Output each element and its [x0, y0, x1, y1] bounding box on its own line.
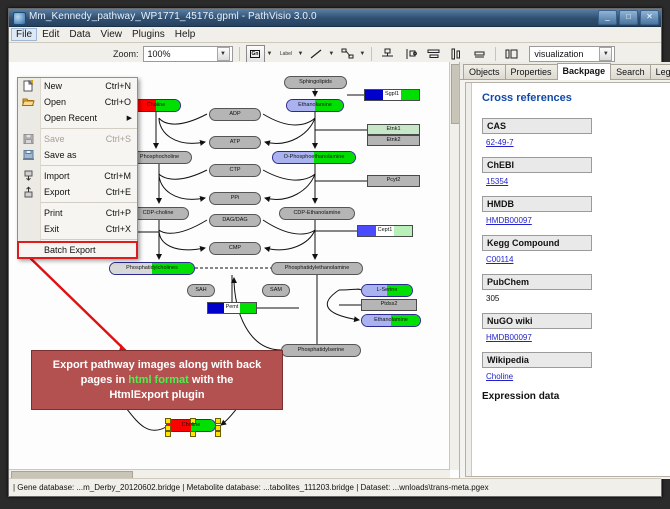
title-bar: Mm_Kennedy_pathway_WP1771_45176.gpml - P…: [9, 9, 661, 27]
cross-reference-list: CAS62-49-7ChEBI15354HMDBHMDB00097Kegg Co…: [482, 118, 670, 381]
new-document-icon: [22, 80, 35, 92]
status-text: | Gene database: ...m_Derby_20120602.bri…: [9, 483, 489, 492]
menu-item-new-label: New: [44, 81, 62, 91]
callout-highlight: html format: [128, 374, 189, 386]
distribute-horizontal-icon[interactable]: [447, 45, 466, 63]
pathway-node-cept1[interactable]: Cept1: [357, 225, 413, 237]
tab-objects[interactable]: Objects: [463, 64, 506, 79]
align-top-icon[interactable]: [378, 45, 397, 63]
backpage-scrollbar[interactable]: [466, 83, 472, 476]
pathway-node-ethanolamine2[interactable]: Ethanolamine: [361, 314, 421, 327]
pathway-node-cmp[interactable]: CMP: [209, 242, 261, 255]
node-label: Pcyt2: [387, 178, 401, 184]
menu-item-open-recent-label: Open Recent: [44, 113, 97, 123]
node-label: Ethanolamine: [298, 103, 332, 109]
file-menu-popup[interactable]: New Ctrl+N Open Ctrl+O Open Recent ▶ Sav…: [17, 77, 138, 259]
node-label: CDP-choline: [143, 211, 174, 217]
menu-help[interactable]: Help: [170, 28, 201, 41]
node-label: Ptdss2: [381, 302, 398, 308]
pathway-node-dagdag[interactable]: DAG/DAG: [209, 214, 261, 227]
selection-handle-7[interactable]: [215, 431, 221, 437]
pathway-node-lserine[interactable]: L-Serine: [361, 284, 413, 297]
window-controls: _ □ ✕: [598, 10, 659, 25]
callout-line2-after: with the: [189, 374, 234, 386]
toolbar-separator-3: [495, 47, 496, 61]
pathway-node-pcyt2[interactable]: Pcyt2: [367, 175, 420, 187]
xref-source-kegg-compound: Kegg Compound: [482, 235, 592, 251]
pathway-node-etnk2[interactable]: Etnk2: [367, 135, 420, 146]
menu-data[interactable]: Data: [64, 28, 95, 41]
toolbar-separator-2: [371, 47, 372, 61]
menu-edit[interactable]: Edit: [37, 28, 64, 41]
node-label: Pemt: [226, 305, 239, 311]
node-label: CDP-Ethanolamine: [293, 211, 340, 217]
node-label: DAG/DAG: [222, 218, 247, 224]
menu-separator-4: [41, 239, 137, 240]
node-label: Phosphatidylcholines: [126, 266, 178, 272]
menu-item-exit-accel: Ctrl+X: [106, 224, 131, 234]
menu-item-print[interactable]: Print Ctrl+P: [18, 205, 137, 221]
selection-handle-5[interactable]: [165, 431, 171, 437]
backpage-content: Cross references CAS62-49-7ChEBI15354HMD…: [465, 82, 670, 477]
menu-item-save-accel: Ctrl+S: [106, 134, 131, 144]
stack-icon[interactable]: [470, 45, 489, 63]
pathway-node-ptdss2[interactable]: Ptdss2: [361, 299, 417, 311]
minimize-button[interactable]: _: [598, 10, 617, 25]
side-panel-tabs: Objects Properties Backpage Search Legen…: [460, 62, 670, 80]
node-label: SAM: [270, 288, 282, 294]
tab-legend[interactable]: Legend: [650, 64, 670, 79]
xref-value-cas[interactable]: 62-49-7: [486, 138, 670, 147]
xref-value-kegg-compound[interactable]: C00114: [486, 255, 670, 264]
pathway-node-sgpl1[interactable]: Sgpl1: [364, 89, 420, 101]
pathway-node-ctp[interactable]: CTP: [209, 164, 261, 177]
xref-value-nugo-wiki[interactable]: HMDB00097: [486, 333, 670, 342]
pathway-node-ethanolamine[interactable]: Ethanolamine: [286, 99, 344, 112]
submenu-arrow-icon: ▶: [127, 114, 132, 122]
status-bar: | Gene database: ...m_Derby_20120602.bri…: [9, 478, 661, 496]
node-label: Etnk2: [386, 138, 400, 144]
callout-line3: HtmlExport plugin: [109, 389, 204, 401]
folder-open-icon: [22, 96, 35, 108]
app-icon: [13, 12, 26, 25]
node-label: Phosphatidylethanolamine: [285, 266, 350, 272]
menu-item-new-accel: Ctrl+N: [105, 81, 131, 91]
pathway-node-choline2[interactable]: Choline: [166, 419, 216, 432]
xref-value-wikipedia[interactable]: Choline: [486, 372, 670, 381]
xref-value-chebi[interactable]: 15354: [486, 177, 670, 186]
menu-plugins[interactable]: Plugins: [127, 28, 170, 41]
interaction-dropdown-icon[interactable]: ▼: [359, 51, 365, 57]
menu-item-open-label: Open: [44, 97, 66, 107]
menu-item-save-label: Save: [44, 134, 65, 144]
pathway-node-ppi[interactable]: PPi: [209, 192, 261, 205]
xref-source-chebi: ChEBI: [482, 157, 592, 173]
node-label: Cept1: [378, 228, 393, 234]
chevron-down-icon-2[interactable]: ▼: [599, 47, 612, 61]
maximize-button[interactable]: □: [619, 10, 638, 25]
zoom-value: 100%: [148, 49, 171, 59]
menu-view[interactable]: View: [95, 28, 127, 41]
menu-item-print-label: Print: [44, 208, 63, 218]
interaction-icon[interactable]: [338, 45, 357, 63]
menu-item-export-accel: Ctrl+E: [106, 187, 131, 197]
visualization-glyph-icon: [502, 45, 521, 63]
node-label: Sgpl1: [385, 92, 399, 98]
pathway-node-ophosphoethanolamine[interactable]: O-Phosphoethanolamine: [272, 151, 356, 164]
node-label: Etnk1: [386, 127, 400, 133]
menu-item-import-accel: Ctrl+M: [104, 171, 131, 181]
selection-handle-3[interactable]: [165, 425, 171, 431]
line-dropdown-icon[interactable]: ▼: [328, 51, 334, 57]
menu-separator-2: [41, 165, 137, 166]
menu-item-save: Save Ctrl+S: [18, 131, 137, 147]
visualization-value: visualization: [534, 49, 583, 59]
pathway-node-phosphatidylcholines[interactable]: Phosphatidylcholines: [109, 262, 195, 275]
node-label: Choline: [182, 423, 201, 429]
menu-item-save-as-label: Save as: [44, 150, 77, 160]
expression-data-heading: Expression data: [482, 391, 670, 402]
tab-properties[interactable]: Properties: [505, 64, 558, 79]
menu-item-new[interactable]: New Ctrl+N: [18, 78, 137, 94]
menu-separator-3: [41, 202, 137, 203]
zoom-combobox[interactable]: 100% ▼: [143, 46, 233, 62]
window-title: Mm_Kennedy_pathway_WP1771_45176.gpml - P…: [29, 11, 317, 22]
callout-text: Export pathway images along with back pa…: [47, 358, 267, 403]
pathway-node-adp[interactable]: ADP: [209, 108, 261, 121]
xref-source-cas: CAS: [482, 118, 592, 134]
selection-handle-6[interactable]: [190, 431, 196, 437]
pathway-node-sam[interactable]: SAM: [262, 284, 290, 297]
node-label: Phosphocholine: [140, 155, 179, 161]
selection-handle-2[interactable]: [215, 418, 221, 424]
align-left-icon[interactable]: [401, 45, 420, 63]
menu-file[interactable]: File: [11, 28, 37, 41]
node-label: Choline: [147, 103, 166, 109]
menu-item-import-label: Import: [44, 171, 70, 181]
pathway-node-pemt[interactable]: Pemt: [207, 302, 257, 314]
pathway-node-etnk1[interactable]: Etnk1: [367, 124, 420, 135]
menu-item-import[interactable]: Import Ctrl+M: [18, 168, 137, 184]
side-panel: Objects Properties Backpage Search Legen…: [460, 62, 670, 479]
xref-value-pubchem: 305: [486, 294, 670, 303]
cross-references-heading: Cross references: [482, 92, 670, 104]
datanode-icon[interactable]: Gn: [246, 45, 265, 63]
label-dropdown-icon[interactable]: ▼: [297, 51, 303, 57]
xref-source-nugo-wiki: NuGO wiki: [482, 313, 592, 329]
pathway-node-cdpethanolamine[interactable]: CDP-Ethanolamine: [279, 207, 355, 220]
node-label: SAH: [195, 288, 206, 294]
menu-item-export[interactable]: Export Ctrl+E: [18, 184, 137, 200]
menu-separator-1: [41, 128, 137, 129]
menu-item-open-accel: Ctrl+O: [105, 97, 131, 107]
export-icon: [22, 186, 35, 198]
xref-source-pubchem: PubChem: [482, 274, 592, 290]
node-label: ATP: [230, 140, 240, 146]
menu-item-exit-label: Exit: [44, 224, 59, 234]
line-icon[interactable]: [307, 45, 326, 63]
menu-item-batch-export[interactable]: Batch Export: [18, 242, 137, 258]
save-as-icon: [22, 149, 35, 161]
visualization-combobox[interactable]: visualization ▼: [529, 46, 615, 62]
node-label: CMP: [229, 246, 241, 252]
zoom-label: Zoom:: [113, 49, 139, 59]
callout-box: Export pathway images along with back pa…: [31, 350, 283, 410]
pathvisio-window: Mm_Kennedy_pathway_WP1771_45176.gpml - P…: [8, 8, 662, 497]
node-label: PPi: [231, 196, 240, 202]
node-label: Ethanolamine: [374, 318, 408, 324]
menu-item-print-accel: Ctrl+P: [106, 208, 131, 218]
menu-item-save-as[interactable]: Save as: [18, 147, 137, 163]
menu-item-open[interactable]: Open Ctrl+O: [18, 94, 137, 110]
pathway-node-phosphatidylethanolamine[interactable]: Phosphatidylethanolamine: [271, 262, 363, 275]
menu-item-open-recent[interactable]: Open Recent ▶: [18, 110, 137, 126]
tab-search[interactable]: Search: [610, 64, 651, 79]
selection-handle-0[interactable]: [165, 418, 171, 424]
screenshot-root: Mm_Kennedy_pathway_WP1771_45176.gpml - P…: [0, 0, 670, 509]
callout-line1: Export pathway images along with back: [53, 359, 261, 371]
import-icon: [22, 170, 35, 182]
selection-handle-4[interactable]: [215, 425, 221, 431]
close-button[interactable]: ✕: [640, 10, 659, 25]
node-label: L-Serine: [377, 288, 398, 294]
pathway-node-sphingolipids[interactable]: Sphingolipids: [284, 76, 347, 89]
node-label: O-Phosphoethanolamine: [284, 155, 345, 161]
pathway-node-phosphatidylserine[interactable]: Phosphatidylserine: [281, 344, 361, 357]
menu-item-batch-export-label: Batch Export: [44, 245, 96, 255]
node-label: Sphingolipids: [299, 80, 332, 86]
xref-source-wikipedia: Wikipedia: [482, 352, 592, 368]
distribute-vertical-icon[interactable]: [424, 45, 443, 63]
menu-item-exit[interactable]: Exit Ctrl+X: [18, 221, 137, 237]
callout-line2-before: pages in: [81, 374, 129, 386]
xref-value-hmdb[interactable]: HMDB00097: [486, 216, 670, 225]
menu-item-export-label: Export: [44, 187, 70, 197]
datanode-dropdown-icon[interactable]: ▼: [267, 51, 273, 57]
node-label: ADP: [229, 112, 240, 118]
label-text: Label: [280, 51, 292, 57]
pathway-node-choline[interactable]: Choline: [131, 99, 181, 112]
tab-backpage[interactable]: Backpage: [557, 63, 612, 80]
label-icon[interactable]: Label: [276, 45, 295, 63]
xref-source-hmdb: HMDB: [482, 196, 592, 212]
toolbar-separator: [239, 47, 240, 61]
pathway-node-atp[interactable]: ATP: [209, 136, 261, 149]
chevron-down-icon[interactable]: ▼: [217, 47, 230, 61]
node-label: CTP: [230, 168, 241, 174]
menu-bar: File Edit Data View Plugins Help: [9, 27, 661, 43]
save-disk-icon: [22, 133, 35, 145]
pathway-node-sah[interactable]: SAH: [187, 284, 215, 297]
node-label: Phosphatidylserine: [298, 348, 344, 354]
